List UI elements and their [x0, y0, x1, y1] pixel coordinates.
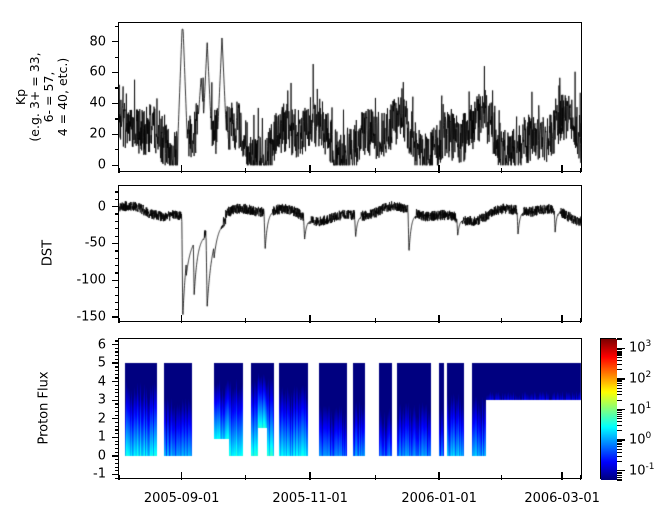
proton-flux-y-minor-tick — [115, 407, 119, 408]
colorbar-major-tick — [617, 378, 625, 379]
proton-flux-x-minor-tick — [118, 475, 119, 480]
proton-flux-y-tick-label: 2 — [98, 412, 106, 425]
colorbar-tick-label: 103 — [629, 342, 651, 355]
colorbar-minor-tick — [617, 338, 622, 339]
colorbar-minor-tick — [617, 394, 622, 395]
kp-x-major-tick — [309, 165, 310, 173]
colorbar-minor-tick — [617, 430, 622, 431]
proton-flux-x-major-tick — [181, 472, 182, 480]
x-axis-tick-label: 2006-01-01 — [401, 492, 477, 505]
proton-flux-x-minor-tick — [580, 475, 581, 480]
colorbar-minor-tick — [617, 380, 622, 381]
proton-flux-axis-title-text: Proton Flux — [37, 371, 52, 444]
proton-flux-y-minor-tick — [115, 348, 119, 349]
kp-y-tick-label: 20 — [89, 128, 106, 141]
kp-x-major-tick — [561, 165, 562, 173]
proton-flux-y-major-tick — [112, 344, 119, 345]
dst-y-minor-tick — [115, 199, 119, 200]
proton-flux-y-major-tick — [112, 418, 119, 419]
dst-x-minor-tick — [501, 318, 502, 323]
colorbar-minor-tick — [617, 443, 622, 444]
colorbar-tick-label: 100 — [629, 434, 651, 447]
kp-axis-title: Kp (e.g. 3+ = 33, 6- = 57, 4 = 40, etc.) — [14, 52, 70, 141]
colorbar-minor-tick — [617, 400, 622, 401]
kp-y-major-tick — [112, 165, 119, 166]
kp-y-minor-tick — [115, 87, 119, 88]
kp-x-minor-tick — [245, 168, 246, 173]
colorbar-minor-tick — [617, 385, 622, 386]
proton-flux-x-major-tick — [438, 472, 439, 480]
colorbar-minor-tick — [617, 446, 622, 447]
kp-y-tick-label: 40 — [89, 97, 106, 110]
dst-y-minor-tick — [115, 265, 119, 266]
dst-y-minor-tick — [115, 309, 119, 310]
colorbar: 10-1100101102103 — [600, 338, 616, 479]
proton-flux-y-minor-tick — [115, 422, 119, 423]
proton-flux-plot-area — [119, 339, 581, 478]
proton-flux-y-minor-tick — [115, 355, 119, 356]
kp-axis-title-line-2: (e.g. 3+ = 33, — [28, 52, 42, 141]
proton-flux-y-minor-tick — [115, 411, 119, 412]
kp-line-canvas — [119, 23, 581, 171]
kp-x-major-tick — [181, 165, 182, 173]
colorbar-major-tick — [617, 348, 625, 349]
proton-flux-y-minor-tick — [115, 415, 119, 416]
dst-y-minor-tick — [115, 250, 119, 251]
colorbar-minor-tick — [617, 381, 622, 382]
colorbar-minor-tick — [617, 391, 622, 392]
kp-y-minor-tick — [115, 57, 119, 58]
x-axis-tick-label: 2006-03-01 — [524, 492, 600, 505]
proton-flux-y-minor-tick — [115, 444, 119, 445]
kp-y-major-tick — [112, 103, 119, 104]
dst-y-major-tick — [112, 243, 119, 244]
dst-y-minor-tick — [115, 221, 119, 222]
dst-panel: 0-50-100-150 — [118, 185, 582, 322]
colorbar-minor-tick — [617, 452, 622, 453]
colorbar-minor-tick — [617, 357, 622, 358]
proton-flux-y-minor-tick — [115, 385, 119, 386]
dst-y-major-tick — [112, 206, 119, 207]
proton-flux-y-minor-tick — [115, 470, 119, 471]
proton-flux-y-minor-tick — [115, 351, 119, 352]
dst-x-major-tick — [309, 315, 310, 323]
dst-y-minor-tick — [115, 295, 119, 296]
proton-flux-y-tick-label: -1 — [93, 468, 106, 481]
kp-y-minor-tick — [115, 118, 119, 119]
kp-x-minor-tick — [375, 168, 376, 173]
kp-axis-title-line-4: 4 = 40, etc.) — [56, 52, 70, 141]
colorbar-minor-tick — [617, 425, 622, 426]
kp-y-tick-label: 60 — [89, 66, 106, 79]
colorbar-minor-tick — [617, 388, 622, 389]
kp-y-minor-tick — [115, 26, 119, 27]
proton-flux-y-minor-tick — [115, 467, 119, 468]
colorbar-minor-tick — [617, 475, 622, 476]
proton-flux-y-minor-tick — [115, 370, 119, 371]
proton-flux-y-minor-tick — [115, 389, 119, 390]
colorbar-tick-label: 102 — [629, 372, 651, 385]
colorbar-minor-tick — [617, 444, 622, 445]
dst-y-tick-label: 0 — [98, 200, 106, 213]
colorbar-tick-label: 101 — [629, 403, 651, 416]
colorbar-minor-tick — [617, 383, 622, 384]
colorbar-minor-tick — [617, 416, 622, 417]
colorbar-minor-tick — [617, 449, 622, 450]
colorbar-minor-tick — [617, 369, 622, 370]
colorbar-minor-tick — [617, 473, 622, 474]
dst-axis-title: DST — [41, 240, 56, 266]
dst-x-major-tick — [438, 315, 439, 323]
proton-flux-y-tick-label: 3 — [98, 394, 106, 407]
kp-panel: 020406080 — [118, 22, 582, 172]
proton-flux-x-major-tick — [309, 472, 310, 480]
colorbar-minor-tick — [617, 461, 622, 462]
proton-flux-y-minor-tick — [115, 359, 119, 360]
proton-flux-x-minor-tick — [501, 475, 502, 480]
proton-flux-y-minor-tick — [115, 463, 119, 464]
proton-flux-y-tick-label: 0 — [98, 449, 106, 462]
proton-flux-y-minor-tick — [115, 459, 119, 460]
proton-flux-y-minor-tick — [115, 452, 119, 453]
proton-flux-x-major-tick — [561, 472, 562, 480]
proton-flux-y-tick-label: 5 — [98, 357, 106, 370]
dst-axis-title-text: DST — [41, 240, 56, 266]
colorbar-minor-tick — [617, 412, 622, 413]
kp-plot-area — [119, 23, 581, 171]
proton-flux-y-tick-label: 6 — [98, 338, 106, 351]
colorbar-minor-tick — [617, 360, 622, 361]
proton-flux-x-minor-tick — [375, 475, 376, 480]
dst-plot-area — [119, 186, 581, 321]
kp-axis-title-line-3: 6- = 57, — [42, 52, 56, 141]
colorbar-minor-tick — [617, 354, 622, 355]
dst-line-canvas — [119, 186, 581, 321]
proton-flux-y-minor-tick — [115, 340, 119, 341]
colorbar-minor-tick — [617, 414, 622, 415]
kp-y-minor-tick — [115, 149, 119, 150]
colorbar-minor-tick — [617, 472, 622, 473]
dst-x-minor-tick — [580, 318, 581, 323]
dst-y-minor-tick — [115, 272, 119, 273]
dst-x-minor-tick — [245, 318, 246, 323]
kp-y-major-tick — [112, 41, 119, 42]
dst-y-minor-tick — [115, 258, 119, 259]
colorbar-tick-label: 10-1 — [629, 464, 655, 477]
proton-flux-spectrogram-canvas — [119, 339, 581, 478]
proton-flux-y-minor-tick — [115, 392, 119, 393]
dst-x-minor-tick — [375, 318, 376, 323]
kp-x-major-tick — [438, 165, 439, 173]
dst-x-major-tick — [561, 315, 562, 323]
colorbar-minor-tick — [617, 351, 622, 352]
dst-y-minor-tick — [115, 213, 119, 214]
proton-flux-y-minor-tick — [115, 403, 119, 404]
colorbar-minor-tick — [617, 418, 622, 419]
dst-y-tick-label: -100 — [76, 274, 106, 287]
dst-y-major-tick — [112, 280, 119, 281]
proton-flux-y-minor-tick — [115, 366, 119, 367]
colorbar-major-tick — [617, 439, 625, 440]
proton-flux-y-tick-label: 1 — [98, 431, 106, 444]
proton-flux-y-minor-tick — [115, 377, 119, 378]
dst-y-minor-tick — [115, 191, 119, 192]
colorbar-minor-tick — [617, 364, 622, 365]
kp-x-minor-tick — [118, 168, 119, 173]
dst-y-minor-tick — [115, 236, 119, 237]
colorbar-minor-tick — [617, 479, 622, 480]
colorbar-minor-tick — [617, 441, 622, 442]
proton-flux-y-minor-tick — [115, 448, 119, 449]
proton-flux-axis-title: Proton Flux — [37, 371, 52, 444]
proton-flux-y-minor-tick — [115, 396, 119, 397]
x-axis-tick-label: 2005-11-01 — [272, 492, 348, 505]
proton-flux-y-minor-tick — [115, 374, 119, 375]
proton-flux-y-minor-tick — [115, 441, 119, 442]
dst-y-minor-tick — [115, 302, 119, 303]
proton-flux-x-minor-tick — [245, 475, 246, 480]
proton-flux-y-minor-tick — [115, 429, 119, 430]
kp-axis-title-line-1: Kp — [14, 52, 28, 141]
colorbar-gradient — [601, 339, 617, 480]
colorbar-minor-tick — [617, 410, 622, 411]
proton-flux-y-minor-tick — [115, 433, 119, 434]
colorbar-minor-tick — [617, 349, 622, 350]
proton-flux-panel: -101234562005-09-012005-11-012006-01-012… — [118, 338, 582, 479]
kp-y-tick-label: 0 — [98, 159, 106, 172]
dst-y-tick-label: -150 — [76, 311, 106, 324]
proton-flux-y-tick-label: 4 — [98, 375, 106, 388]
proton-flux-y-minor-tick — [115, 426, 119, 427]
dst-x-major-tick — [181, 315, 182, 323]
kp-y-tick-label: 80 — [89, 35, 106, 48]
x-axis-tick-label: 2005-09-01 — [144, 492, 220, 505]
proton-flux-y-major-tick — [112, 437, 119, 438]
dst-x-minor-tick — [118, 318, 119, 323]
colorbar-major-tick — [617, 409, 625, 410]
proton-flux-y-major-tick — [112, 381, 119, 382]
proton-flux-y-major-tick — [112, 362, 119, 363]
proton-flux-y-major-tick — [112, 455, 119, 456]
kp-x-minor-tick — [501, 168, 502, 173]
colorbar-minor-tick — [617, 421, 622, 422]
colorbar-major-tick — [617, 470, 625, 471]
kp-y-major-tick — [112, 134, 119, 135]
kp-x-minor-tick — [580, 168, 581, 173]
colorbar-minor-tick — [617, 352, 622, 353]
proton-flux-y-major-tick — [112, 400, 119, 401]
dst-y-minor-tick — [115, 287, 119, 288]
dst-y-tick-label: -50 — [85, 237, 106, 250]
colorbar-minor-tick — [617, 456, 622, 457]
figure-root: Kp (e.g. 3+ = 33, 6- = 57, 4 = 40, etc.)… — [0, 0, 665, 523]
dst-y-minor-tick — [115, 228, 119, 229]
colorbar-minor-tick — [617, 477, 622, 478]
kp-y-major-tick — [112, 72, 119, 73]
